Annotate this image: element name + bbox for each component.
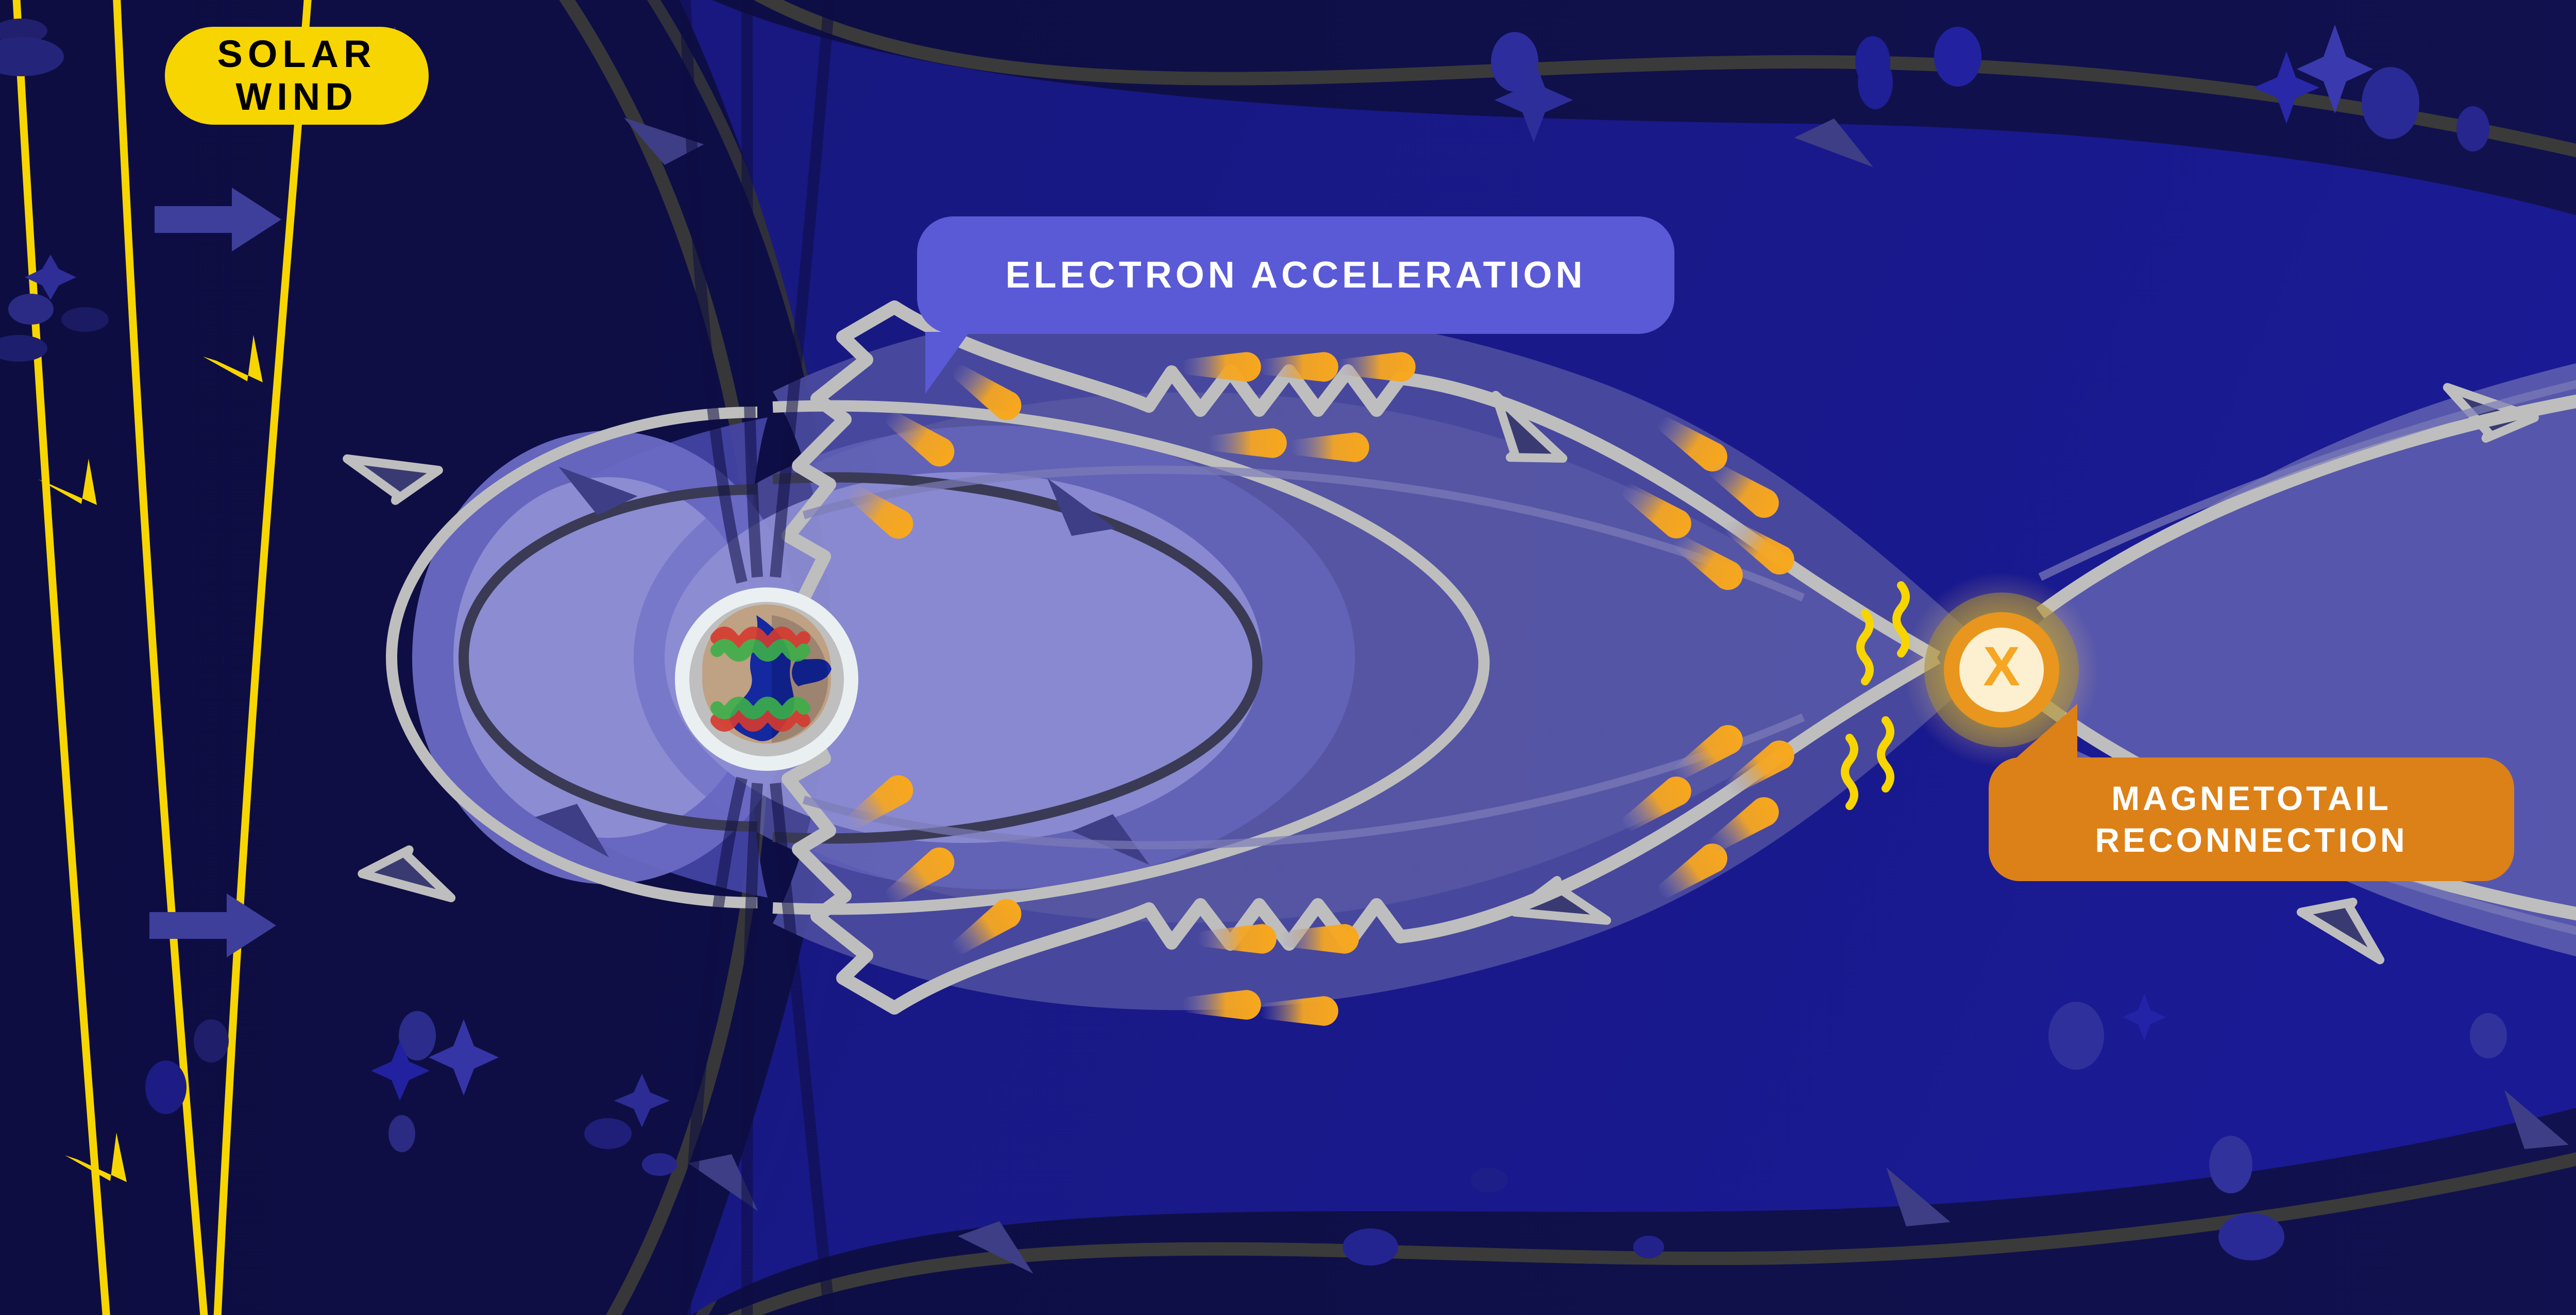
magnetotail-line-1: MAGNETOTAIL	[2111, 778, 2392, 819]
magnetotail-reconnection-label[interactable]: MAGNETOTAIL RECONNECTION	[1989, 757, 2514, 881]
speech-bubble-tail-icon	[925, 332, 970, 394]
star-dot	[642, 1153, 677, 1176]
star-dot	[2470, 1013, 2507, 1058]
star-dot	[584, 1118, 632, 1149]
star-dot	[1343, 1228, 1398, 1266]
electron-acceleration-text: ELECTRON ACCELERATION	[1006, 254, 1586, 296]
star-dot	[2362, 67, 2419, 139]
x-point-glyph: X	[1983, 635, 2020, 697]
star-dot	[1633, 1236, 1664, 1258]
star-dot	[145, 1060, 187, 1114]
solar-wind-line-2: WIND	[235, 76, 358, 119]
earth	[675, 587, 858, 771]
aurora-south	[717, 703, 804, 725]
star-dot	[2048, 1002, 2104, 1070]
magnetotail-line-2: RECONNECTION	[2095, 819, 2408, 861]
solar-wind-line-1: SOLAR	[217, 33, 377, 76]
star-dot	[61, 307, 109, 332]
star-dot	[1934, 27, 1981, 87]
solar-wind-label[interactable]: SOLAR WIND	[165, 27, 429, 125]
star-dot	[2209, 1136, 2252, 1193]
star-dot	[194, 1019, 229, 1063]
speech-bubble-tail-icon	[2015, 704, 2077, 758]
star-dot	[1858, 56, 1893, 109]
star-dot	[2456, 106, 2489, 151]
star-dot	[2218, 1213, 2284, 1260]
star-dot	[1470, 1168, 1507, 1192]
star-dot	[388, 1115, 415, 1152]
magnetosphere-diagram: X	[0, 0, 2576, 1315]
electron-acceleration-label[interactable]: ELECTRON ACCELERATION	[917, 216, 1674, 334]
diagram-canvas: X	[0, 0, 2576, 1315]
aurora-north	[717, 633, 804, 655]
star-dot	[8, 294, 54, 325]
